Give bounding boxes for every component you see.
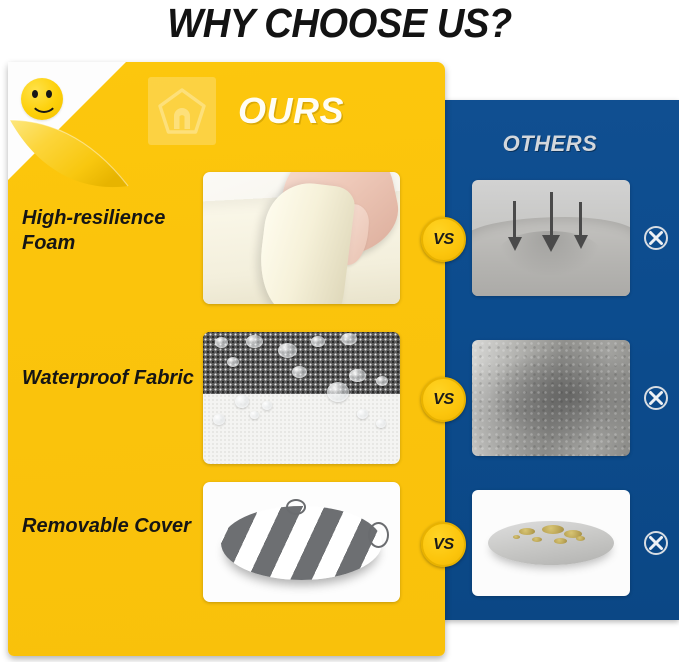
vs-badge-1: VS bbox=[421, 217, 466, 262]
page-title: WHY CHOOSE US? bbox=[24, 0, 655, 48]
sagging-foam-arrows-image bbox=[472, 180, 630, 296]
hand-pinching-foam-image bbox=[203, 172, 400, 304]
striped-round-cushion-image bbox=[203, 482, 400, 602]
down-arrow-icon-1 bbox=[504, 201, 526, 268]
down-arrow-icon-3 bbox=[570, 202, 592, 266]
ours-thumbnail-2 bbox=[203, 332, 400, 464]
others-thumbnail-3 bbox=[472, 490, 630, 596]
ours-thumbnail-1 bbox=[203, 172, 400, 304]
vs-badge-3: VS bbox=[421, 522, 466, 567]
comparison-row-3: Removable Cover VS bbox=[0, 480, 679, 620]
feature-label-2: Waterproof Fabric bbox=[22, 366, 197, 391]
ours-thumbnail-3 bbox=[203, 482, 400, 602]
feature-label-1: High-resilience Foam bbox=[22, 206, 197, 256]
others-thumbnail-2 bbox=[472, 340, 630, 456]
vs-badge-label-3: VS bbox=[433, 536, 454, 554]
down-arrow-icon-2 bbox=[538, 192, 564, 273]
ours-column-label: OURS bbox=[238, 90, 344, 132]
ours-header: OURS bbox=[148, 77, 344, 145]
soaked-stained-fabric-image bbox=[472, 340, 630, 456]
house-pentagon-logo-icon bbox=[148, 77, 216, 145]
circle-x-icon-1 bbox=[643, 225, 669, 251]
circle-x-icon-2 bbox=[643, 385, 669, 411]
circle-x-icon-3 bbox=[643, 530, 669, 556]
feature-label-3: Removable Cover bbox=[22, 514, 197, 539]
stained-plain-cushion-image bbox=[472, 490, 630, 596]
others-thumbnail-1 bbox=[472, 180, 630, 296]
smiley-mouth bbox=[30, 95, 58, 113]
vs-badge-label-2: VS bbox=[433, 391, 454, 409]
comparison-row-2: Waterproof Fabric VS bbox=[0, 328, 679, 468]
vs-badge-label-1: VS bbox=[433, 231, 454, 249]
cushion-tie-left bbox=[286, 499, 306, 515]
peeled-page-curl bbox=[10, 118, 128, 190]
waterproof-mesh-beads-image bbox=[203, 332, 400, 464]
vs-badge-2: VS bbox=[421, 377, 466, 422]
others-column-label: OTHERS bbox=[443, 131, 657, 157]
smiley-face-icon bbox=[21, 78, 63, 120]
